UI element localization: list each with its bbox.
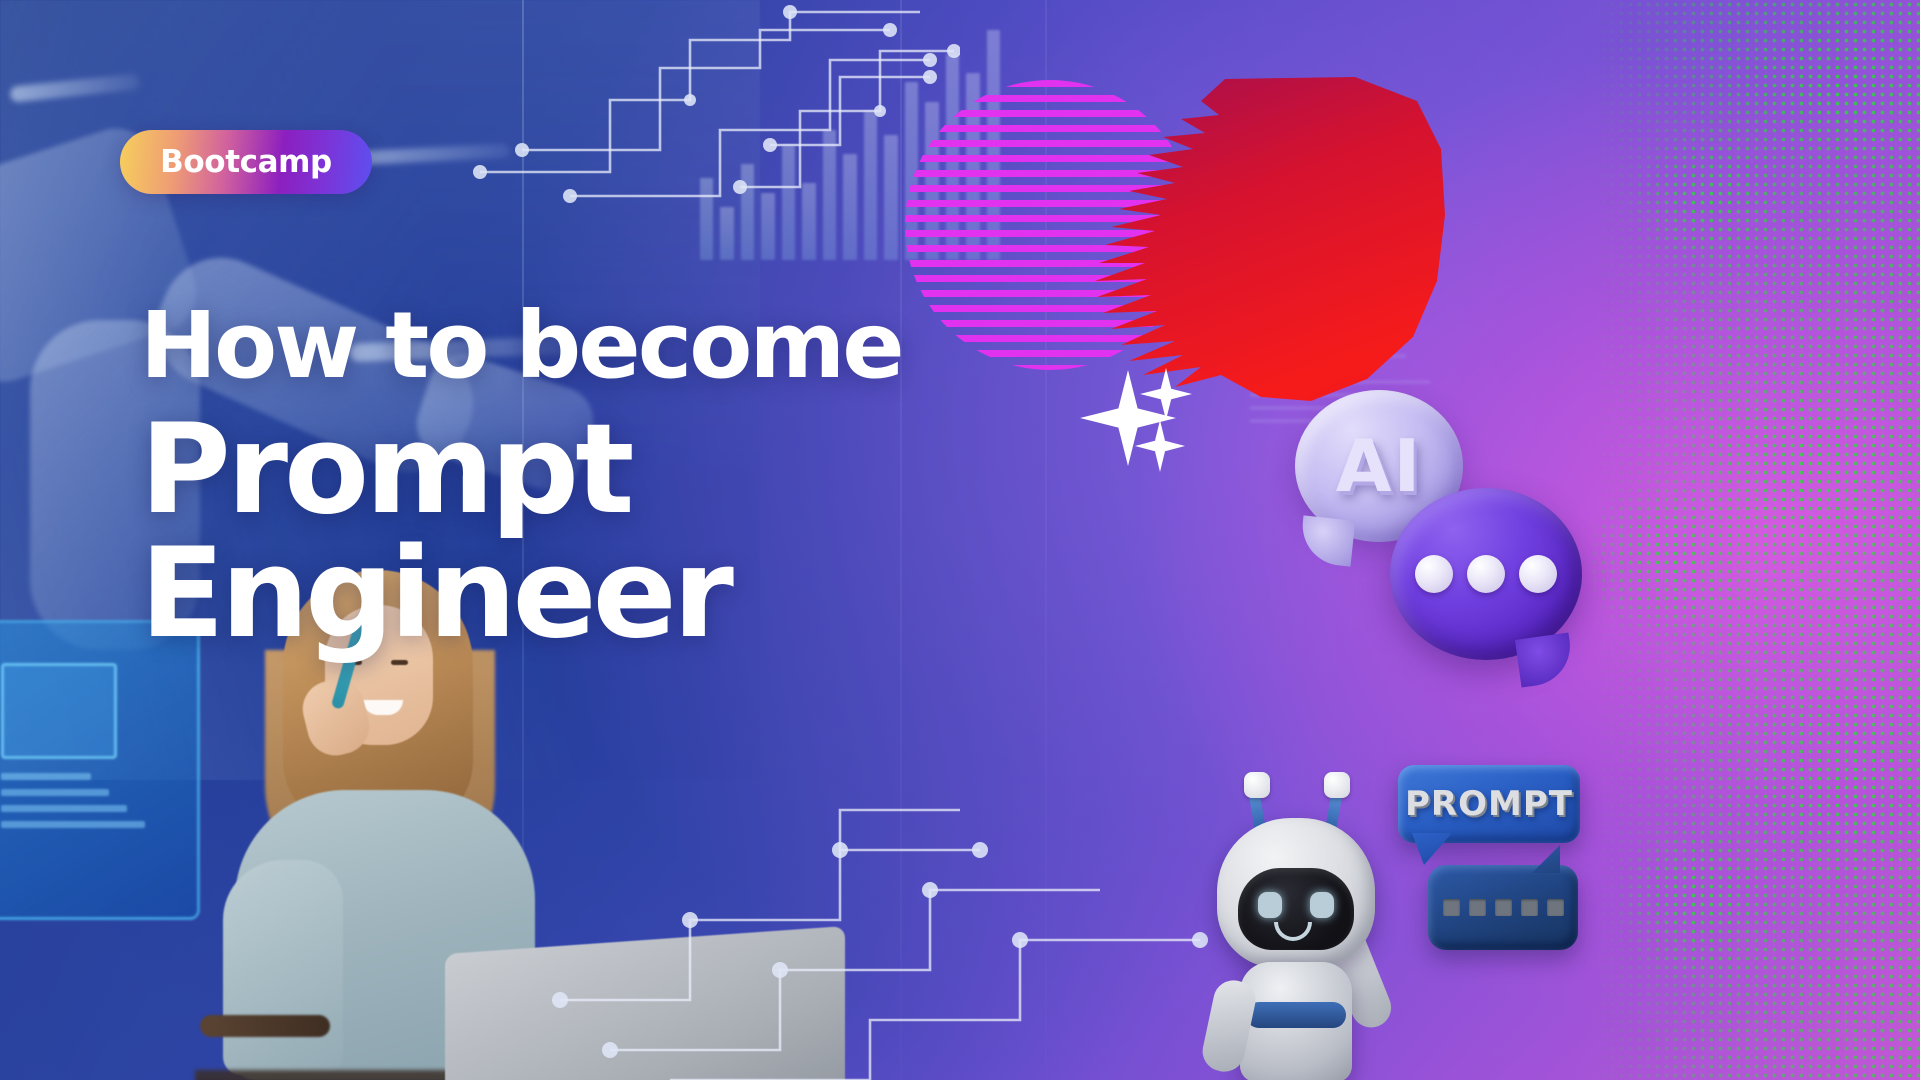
monitor-line — [1, 789, 109, 796]
robot-character — [1200, 770, 1390, 1080]
matrix-dot-pattern — [1590, 0, 1920, 1080]
arm — [223, 860, 343, 1075]
prompt-input-card — [1428, 865, 1578, 950]
input-key — [1469, 899, 1486, 916]
typing-dot — [1519, 555, 1557, 593]
chart-bar — [782, 145, 795, 260]
chart-bar — [700, 178, 713, 260]
chart-bar — [843, 154, 856, 260]
robot-antenna-bulb-left — [1244, 772, 1270, 798]
chart-bar — [864, 111, 877, 260]
chart-bar — [802, 183, 815, 260]
robot-antenna-bulb-right — [1324, 772, 1350, 798]
chart-bar — [823, 130, 836, 260]
typing-dot — [1467, 555, 1505, 593]
typing-indicator-bubble — [1390, 488, 1582, 660]
bootcamp-badge-label: Bootcamp — [160, 144, 332, 180]
chart-bar — [720, 207, 733, 260]
chart-bar — [761, 193, 774, 260]
headline-line-2: Prompt Engineer — [140, 408, 1190, 656]
input-key — [1547, 899, 1564, 916]
headline-block: How to become Prompt Engineer — [140, 300, 1190, 656]
promo-banner: Analytics — [0, 0, 1920, 1080]
ai-bubble-label: AI — [1336, 424, 1423, 508]
headline-line-1: How to become — [140, 300, 1190, 392]
monitor-line — [1, 821, 145, 828]
bootcamp-badge[interactable]: Bootcamp — [120, 130, 372, 194]
chart-bar — [884, 135, 897, 260]
monitor-line — [1, 805, 127, 812]
chart-bar — [741, 164, 754, 260]
laptop — [445, 926, 845, 1080]
typing-dot — [1415, 555, 1453, 593]
prompt-sign-label: PROMPT — [1405, 784, 1573, 824]
input-key — [1495, 899, 1512, 916]
prompt-speech-bubble: PROMPT — [1398, 765, 1580, 843]
robot-eye-right — [1310, 892, 1334, 918]
input-key — [1521, 899, 1538, 916]
robot-eye-left — [1258, 892, 1282, 918]
input-key — [1443, 899, 1460, 916]
monitor-line — [1, 773, 91, 780]
chair-back — [200, 1015, 330, 1037]
monitor-lines — [1, 773, 151, 837]
robot-collar — [1246, 1002, 1346, 1028]
